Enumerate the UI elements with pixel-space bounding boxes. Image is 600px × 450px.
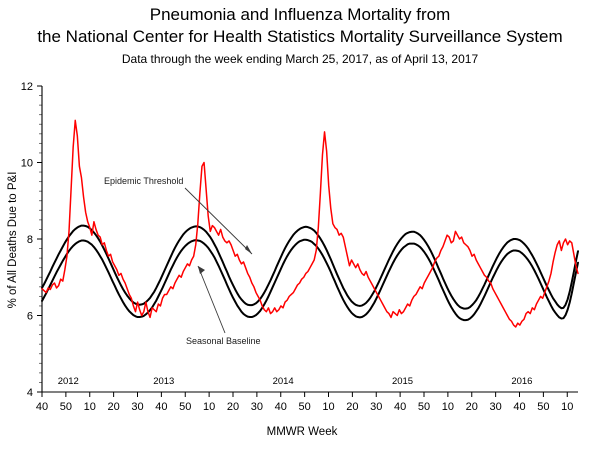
x-tick-label: 20 bbox=[108, 401, 120, 413]
x-tick-label: 50 bbox=[179, 401, 191, 413]
x-tick-label: 40 bbox=[394, 401, 406, 413]
x-tick-label: 10 bbox=[561, 401, 573, 413]
y-tick-label: 4 bbox=[27, 387, 33, 399]
x-tick-label: 40 bbox=[275, 401, 287, 413]
seasonal-baseline-arrowhead bbox=[198, 266, 205, 274]
x-tick-label: 30 bbox=[370, 401, 382, 413]
epidemic-threshold-arrowhead bbox=[245, 245, 252, 254]
y-tick-label: 8 bbox=[27, 234, 33, 246]
x-tick-label: 10 bbox=[442, 401, 454, 413]
x-axis-ticks: 4050102030405010203040501020304050102030… bbox=[36, 392, 574, 413]
x-tick-label: 20 bbox=[466, 401, 478, 413]
year-label: 2013 bbox=[153, 376, 174, 387]
seasonal-baseline-line bbox=[42, 240, 578, 320]
x-tick-label: 50 bbox=[418, 401, 430, 413]
seasonal-baseline-leader bbox=[198, 266, 225, 333]
x-tick-label: 40 bbox=[36, 401, 48, 413]
year-labels: 201220132014201520162017 bbox=[58, 376, 600, 387]
pneumonia-influenza-mortality-chart: 4681012 40501020304050102030405010203040… bbox=[0, 0, 600, 450]
x-tick-label: 20 bbox=[346, 401, 358, 413]
x-tick-label: 30 bbox=[490, 401, 502, 413]
x-tick-label: 50 bbox=[537, 401, 549, 413]
percent-deaths-pi-line bbox=[42, 120, 578, 327]
year-label: 2016 bbox=[511, 376, 532, 387]
year-label: 2012 bbox=[58, 376, 79, 387]
x-tick-label: 40 bbox=[155, 401, 167, 413]
seasonal-baseline-label: Seasonal Baseline bbox=[186, 336, 261, 346]
y-axis-title: % of All Deaths Due to P&I bbox=[7, 172, 19, 309]
y-axis-ticks: 4681012 bbox=[21, 81, 42, 399]
year-label: 2015 bbox=[392, 376, 413, 387]
x-tick-label: 40 bbox=[513, 401, 525, 413]
x-tick-label: 30 bbox=[251, 401, 263, 413]
x-tick-label: 50 bbox=[60, 401, 72, 413]
y-tick-label: 10 bbox=[21, 158, 33, 170]
y-tick-label: 6 bbox=[27, 311, 33, 323]
x-tick-label: 30 bbox=[131, 401, 143, 413]
x-axis-title: MMWR Week bbox=[267, 426, 338, 438]
year-label: 2014 bbox=[273, 376, 294, 387]
x-tick-label: 10 bbox=[322, 401, 334, 413]
epidemic-threshold-label: Epidemic Threshold bbox=[104, 176, 183, 186]
x-tick-label: 20 bbox=[227, 401, 239, 413]
y-tick-label: 12 bbox=[21, 81, 33, 93]
x-tick-label: 10 bbox=[84, 401, 96, 413]
x-tick-label: 10 bbox=[203, 401, 215, 413]
x-tick-label: 50 bbox=[299, 401, 311, 413]
